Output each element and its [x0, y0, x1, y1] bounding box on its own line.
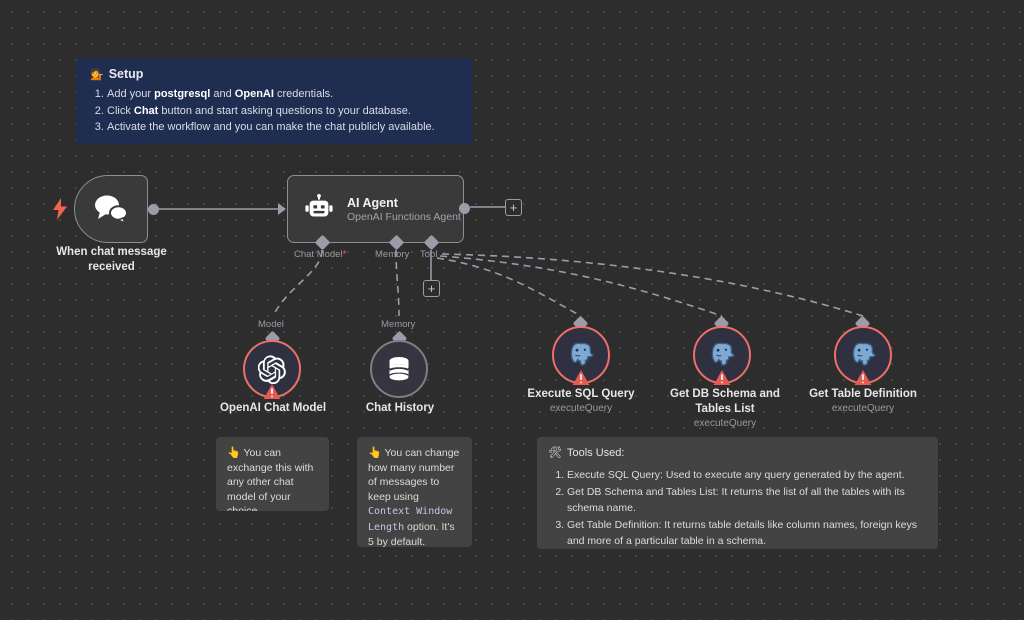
pointing-up-icon: 👆 — [368, 447, 382, 459]
add-tool-button[interactable]: + — [423, 280, 440, 297]
hammer-and-wrench-icon: 🛠 — [548, 446, 562, 461]
node-subcaption-get-db-schema: executeQuery — [650, 418, 800, 429]
setup-steps-list: Add your postgresql and OpenAI credentia… — [90, 86, 458, 136]
agent-port-label-chat-model: Chat Model* — [294, 249, 346, 260]
sticky-note-chat-model-body: 👆 You can exchange this with any other c… — [216, 437, 329, 511]
node-ai-agent[interactable]: AI Agent OpenAI Functions Agent — [287, 175, 464, 243]
node-caption-openai-chat-model: OpenAI Chat Model — [198, 401, 348, 416]
node-when-chat-message-received[interactable] — [74, 175, 148, 243]
sticky-note-setup[interactable]: 💁 Setup Add your postgresql and OpenAI c… — [76, 58, 472, 144]
ai-agent-subtitle: OpenAI Functions Agent — [347, 211, 461, 223]
node-get-table-definition[interactable] — [834, 326, 892, 384]
sticky-note-memory[interactable]: 👆 You can change how many number of mess… — [357, 437, 472, 547]
required-asterisk: * — [343, 249, 347, 260]
database-icon — [386, 356, 412, 383]
lightning-bolt-icon — [52, 198, 68, 220]
connector-label-memory: Memory — [381, 319, 415, 330]
node-caption-get-db-schema: Get DB Schema and Tables List — [650, 387, 800, 417]
node-openai-chat-model[interactable] — [243, 340, 301, 398]
node-chat-history[interactable] — [370, 340, 428, 398]
postgres-elephant-icon — [708, 341, 736, 369]
tools-used-title-text: Tools Used: — [567, 446, 624, 461]
postgres-elephant-icon — [567, 341, 595, 369]
tools-used-item: Execute SQL Query: Used to execute any q… — [567, 468, 927, 484]
warning-triangle-icon — [714, 370, 731, 385]
ai-agent-title: AI Agent — [347, 196, 461, 210]
robot-icon — [304, 194, 334, 224]
sticky-note-chat-model[interactable]: 👆 You can exchange this with any other c… — [216, 437, 329, 511]
node-get-db-schema-and-tables-list[interactable] — [693, 326, 751, 384]
person-raising-hand-icon: 💁 — [90, 68, 104, 81]
setup-step: Activate the workflow and you can make t… — [107, 119, 458, 136]
agent-input-arrow — [278, 203, 286, 215]
pointing-up-icon: 👆 — [227, 447, 241, 459]
connector-label-model: Model — [258, 319, 284, 330]
trigger-output-port[interactable] — [148, 204, 159, 215]
postgres-elephant-icon — [849, 341, 877, 369]
chat-bubbles-icon — [93, 194, 129, 224]
tools-used-item: Get DB Schema and Tables List: It return… — [567, 485, 927, 516]
tools-used-item: Get Table Definition: It returns table d… — [567, 518, 927, 549]
node-subcaption-execute-sql-query: executeQuery — [506, 403, 656, 414]
node-caption-chat-history: Chat History — [330, 401, 470, 416]
sticky-note-tools-used[interactable]: 🛠 Tools Used: Execute SQL Query: Used to… — [537, 437, 938, 549]
node-execute-sql-query[interactable] — [552, 326, 610, 384]
node-caption-execute-sql-query: Execute SQL Query — [506, 387, 656, 402]
node-caption-trigger: When chat message received — [39, 245, 184, 275]
add-node-after-agent-button[interactable]: + — [505, 199, 522, 216]
setup-note-title: 💁 Setup — [90, 67, 458, 81]
warning-triangle-icon — [573, 370, 590, 385]
setup-note-title-text: Setup — [109, 67, 144, 81]
warning-triangle-icon — [855, 370, 872, 385]
setup-step: Click Chat button and start asking quest… — [107, 103, 458, 120]
workflow-canvas[interactable]: 💁 Setup Add your postgresql and OpenAI c… — [0, 0, 1024, 620]
node-caption-get-table-definition: Get Table Definition — [788, 387, 938, 402]
node-subcaption-get-table-definition: executeQuery — [788, 403, 938, 414]
setup-step: Add your postgresql and OpenAI credentia… — [107, 86, 458, 103]
agent-port-label-memory: Memory — [375, 249, 409, 260]
tools-used-list: Execute SQL Query: Used to execute any q… — [548, 468, 927, 550]
sticky-note-memory-body: 👆 You can change how many number of mess… — [357, 437, 472, 547]
tools-used-title: 🛠 Tools Used: — [548, 446, 927, 461]
openai-logo-icon — [258, 355, 287, 384]
agent-output-port[interactable] — [459, 203, 470, 214]
warning-triangle-icon — [264, 384, 281, 399]
agent-port-label-tool: Tool — [420, 249, 437, 260]
